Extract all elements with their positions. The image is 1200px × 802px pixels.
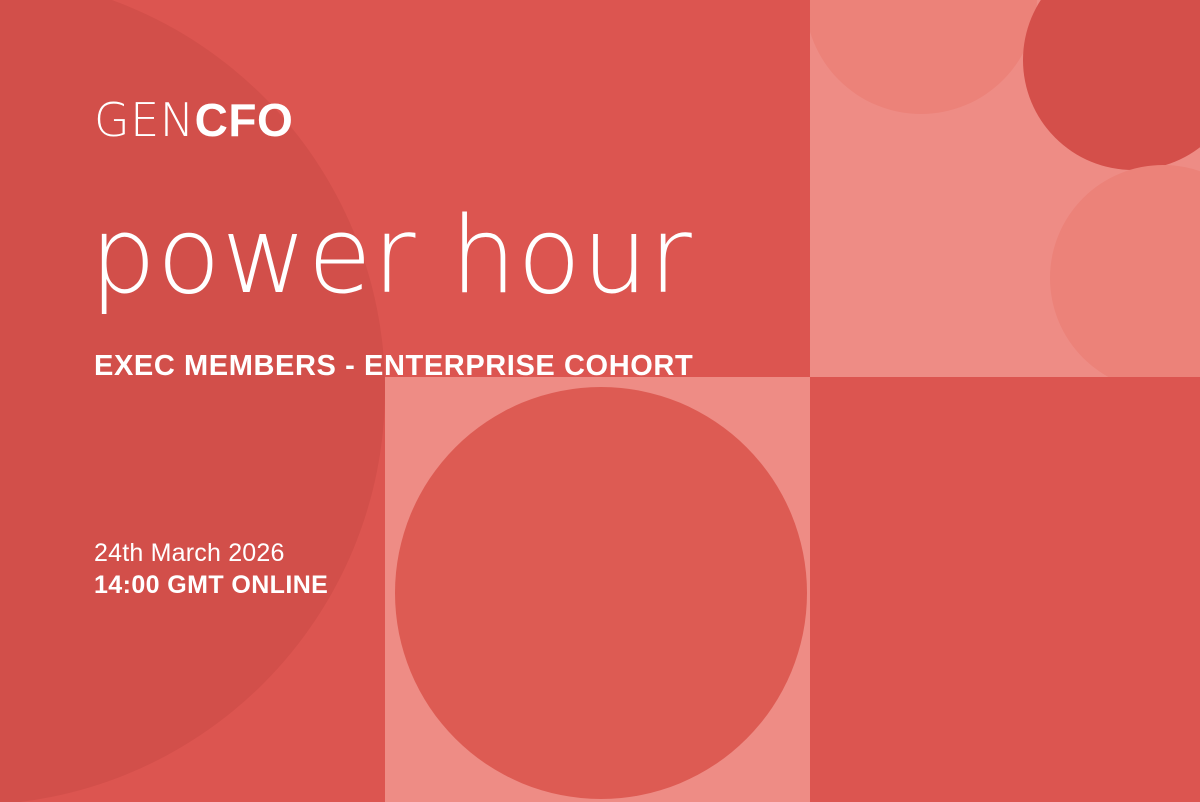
event-time-and-format: 14:00 GMT ONLINE — [94, 569, 328, 601]
gencfo-logo: GENCFO — [94, 97, 293, 143]
poster-subtitle: EXEC MEMBERS - ENTERPRISE COHORT — [94, 350, 693, 383]
poster-content: GENCFO power hour EXEC MEMBERS - ENTERPR… — [0, 0, 1200, 802]
logo-text-gen: GEN — [94, 93, 195, 147]
event-datetime: 24th March 2026 14:00 GMT ONLINE — [94, 537, 328, 601]
page-title: power hour — [90, 198, 693, 313]
event-date: 24th March 2026 — [94, 537, 328, 569]
logo-text-cfo: CFO — [195, 94, 294, 146]
power-hour-event-poster: GENCFO power hour EXEC MEMBERS - ENTERPR… — [0, 0, 1200, 802]
